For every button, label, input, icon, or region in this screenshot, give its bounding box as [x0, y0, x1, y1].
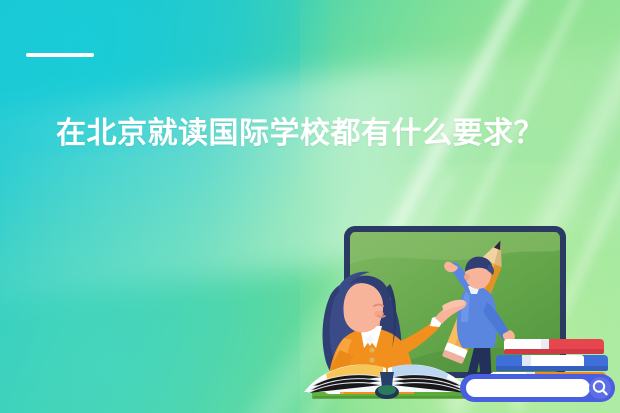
book-stack-top	[504, 339, 604, 354]
article-cover-card: 在北京就读国际学校都有什么要求？	[0, 0, 620, 413]
page-title: 在北京就读国际学校都有什么要求？	[56, 103, 556, 165]
search-bar	[460, 374, 615, 402]
accent-rule	[26, 53, 94, 57]
book-stack-middle	[496, 355, 608, 371]
education-illustration	[282, 222, 620, 413]
